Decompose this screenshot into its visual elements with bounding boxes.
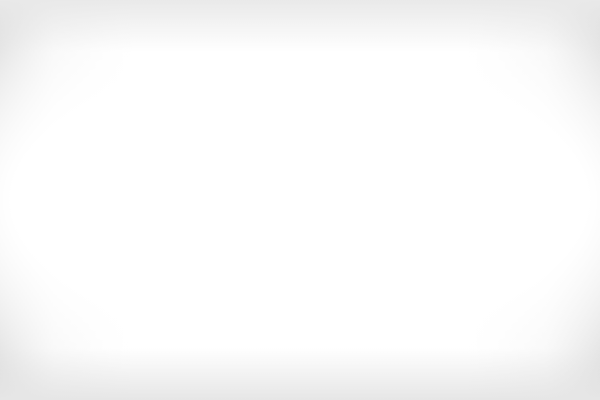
feature-rule bbox=[16, 87, 221, 88]
feature-title-line1: HOOGWAARDIGE bbox=[52, 163, 168, 178]
feature-schuimafstandhouder: SCHUIMAF- STANDHOUDER Maakt het behouden… bbox=[379, 275, 584, 341]
feature-duurzame-handgreep: DUURZAME HANDGREEP Eenvoudige installati… bbox=[379, 52, 584, 121]
feature-desc-line2: afstand tussen de klok en de muur mogeli… bbox=[379, 328, 584, 341]
feature-rule bbox=[16, 198, 221, 199]
feature-title-line2: HANDGREEP bbox=[463, 67, 548, 82]
feature-title-line2: RANDEN bbox=[52, 293, 124, 308]
feature-title-line2: MECHANISME bbox=[453, 178, 548, 193]
feature-desc-line1: Eenvoudige installatie bbox=[379, 93, 584, 107]
feature-rule bbox=[16, 313, 221, 314]
feature-title-line1: DUURZAME bbox=[463, 52, 548, 67]
feature-gehard-glas: GEHARD GLAS Bestand tegen breuk en krass… bbox=[16, 52, 221, 121]
feature-title-line1: GESLEPEN bbox=[52, 278, 124, 293]
infographic-canvas: GEHARD GLAS Bestand tegen breuk en krass… bbox=[0, 0, 600, 400]
feature-desc-line2: van de klok aan de muur bbox=[379, 107, 584, 121]
clock-hand-hub bbox=[233, 187, 238, 192]
feature-title-line2: STANDHOUDER bbox=[445, 290, 548, 305]
feature-desc-line2: van de klok bbox=[379, 218, 584, 232]
feature-rule bbox=[379, 310, 584, 311]
feature-desc-line1: Intense kleuren en bbox=[16, 204, 221, 218]
feature-hoogwaardige-print: ultra HD HOOGWAARDIGE PRINT Intense kleu… bbox=[16, 163, 221, 232]
ultra-hd-icon: ultra HD bbox=[16, 165, 44, 191]
feature-desc-line1: Gladde en veilige afwerking bbox=[16, 319, 221, 333]
foam-spacer bbox=[367, 246, 384, 263]
feature-title-line1: GEHARD bbox=[52, 52, 110, 67]
bevelled-edge-icon bbox=[16, 280, 44, 306]
feature-desc-line1: Maakt het behouden van een gelijke bbox=[379, 316, 584, 329]
feature-title-line1: STILLE bbox=[453, 163, 548, 178]
foam-spacer-icon bbox=[556, 277, 584, 303]
feature-desc-line2: een duidelijk beeld bbox=[16, 218, 221, 232]
feature-title-line1: SCHUIMAF- bbox=[445, 275, 548, 290]
feature-desc-line2: en krassen bbox=[16, 107, 221, 121]
feature-title-line2: PRINT bbox=[52, 178, 168, 193]
feature-desc-line1: Geruisloze wijzers bbox=[379, 204, 584, 218]
feature-title-line2: GLAS bbox=[52, 67, 110, 82]
feature-desc-line1: Bestand tegen breuk bbox=[16, 93, 221, 107]
picture-frame-icon bbox=[556, 54, 584, 80]
feature-stille-mechanisme: STILLE MECHANISME Geruisloze wijzers van… bbox=[379, 163, 584, 232]
feature-rule bbox=[379, 198, 584, 199]
diamond-icon bbox=[16, 54, 44, 80]
feature-rule bbox=[379, 87, 584, 88]
mechanism-hanger bbox=[362, 165, 380, 174]
gear-icon bbox=[556, 165, 584, 191]
feature-geslepen-randen: GESLEPEN RANDEN Gladde en veilige afwerk… bbox=[16, 278, 221, 333]
ultra-hd-icon-bottom: HD bbox=[23, 176, 37, 186]
